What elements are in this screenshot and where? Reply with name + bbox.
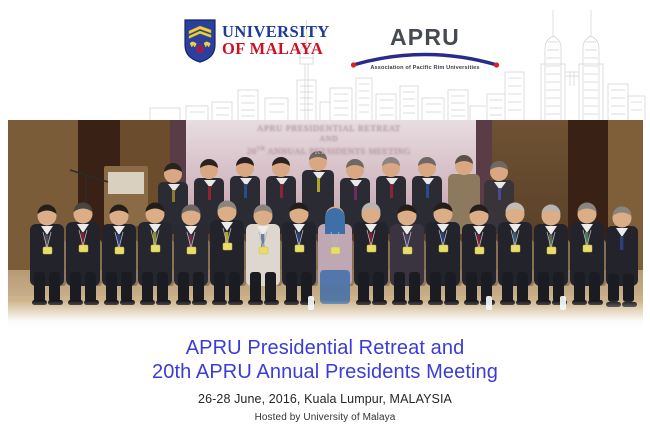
university-of-malaya-crest-icon bbox=[184, 19, 216, 63]
group-photograph-image bbox=[8, 120, 643, 326]
event-title-line2: 20th APRU Annual Presidents Meeting bbox=[0, 360, 650, 384]
university-of-malaya-wordmark: UNIVERSITY OF MALAYA bbox=[222, 24, 330, 58]
event-date-location: 26-28 June, 2016, Kuala Lumpur, MALAYSIA bbox=[0, 392, 650, 406]
um-wordmark-line2: OF MALAYA bbox=[222, 41, 330, 58]
apru-logo: APRU Association of Pacific Rim Universi… bbox=[350, 24, 500, 76]
group-photograph: APRU PRESIDENTIAL RETREAT AND 20TH ANNUA… bbox=[8, 120, 643, 326]
page-header: UNIVERSITY OF MALAYA APRU Association of… bbox=[0, 0, 650, 120]
apru-subtitle: Association of Pacific Rim Universities bbox=[350, 65, 500, 71]
university-of-malaya-logo: UNIVERSITY OF MALAYA bbox=[184, 19, 330, 63]
event-caption: APRU Presidential Retreat and 20th APRU … bbox=[0, 336, 650, 423]
event-title-line1: APRU Presidential Retreat and bbox=[0, 336, 650, 360]
event-announcement-page: UNIVERSITY OF MALAYA APRU Association of… bbox=[0, 0, 650, 433]
event-host: Hosted by University of Malaya bbox=[0, 412, 650, 423]
